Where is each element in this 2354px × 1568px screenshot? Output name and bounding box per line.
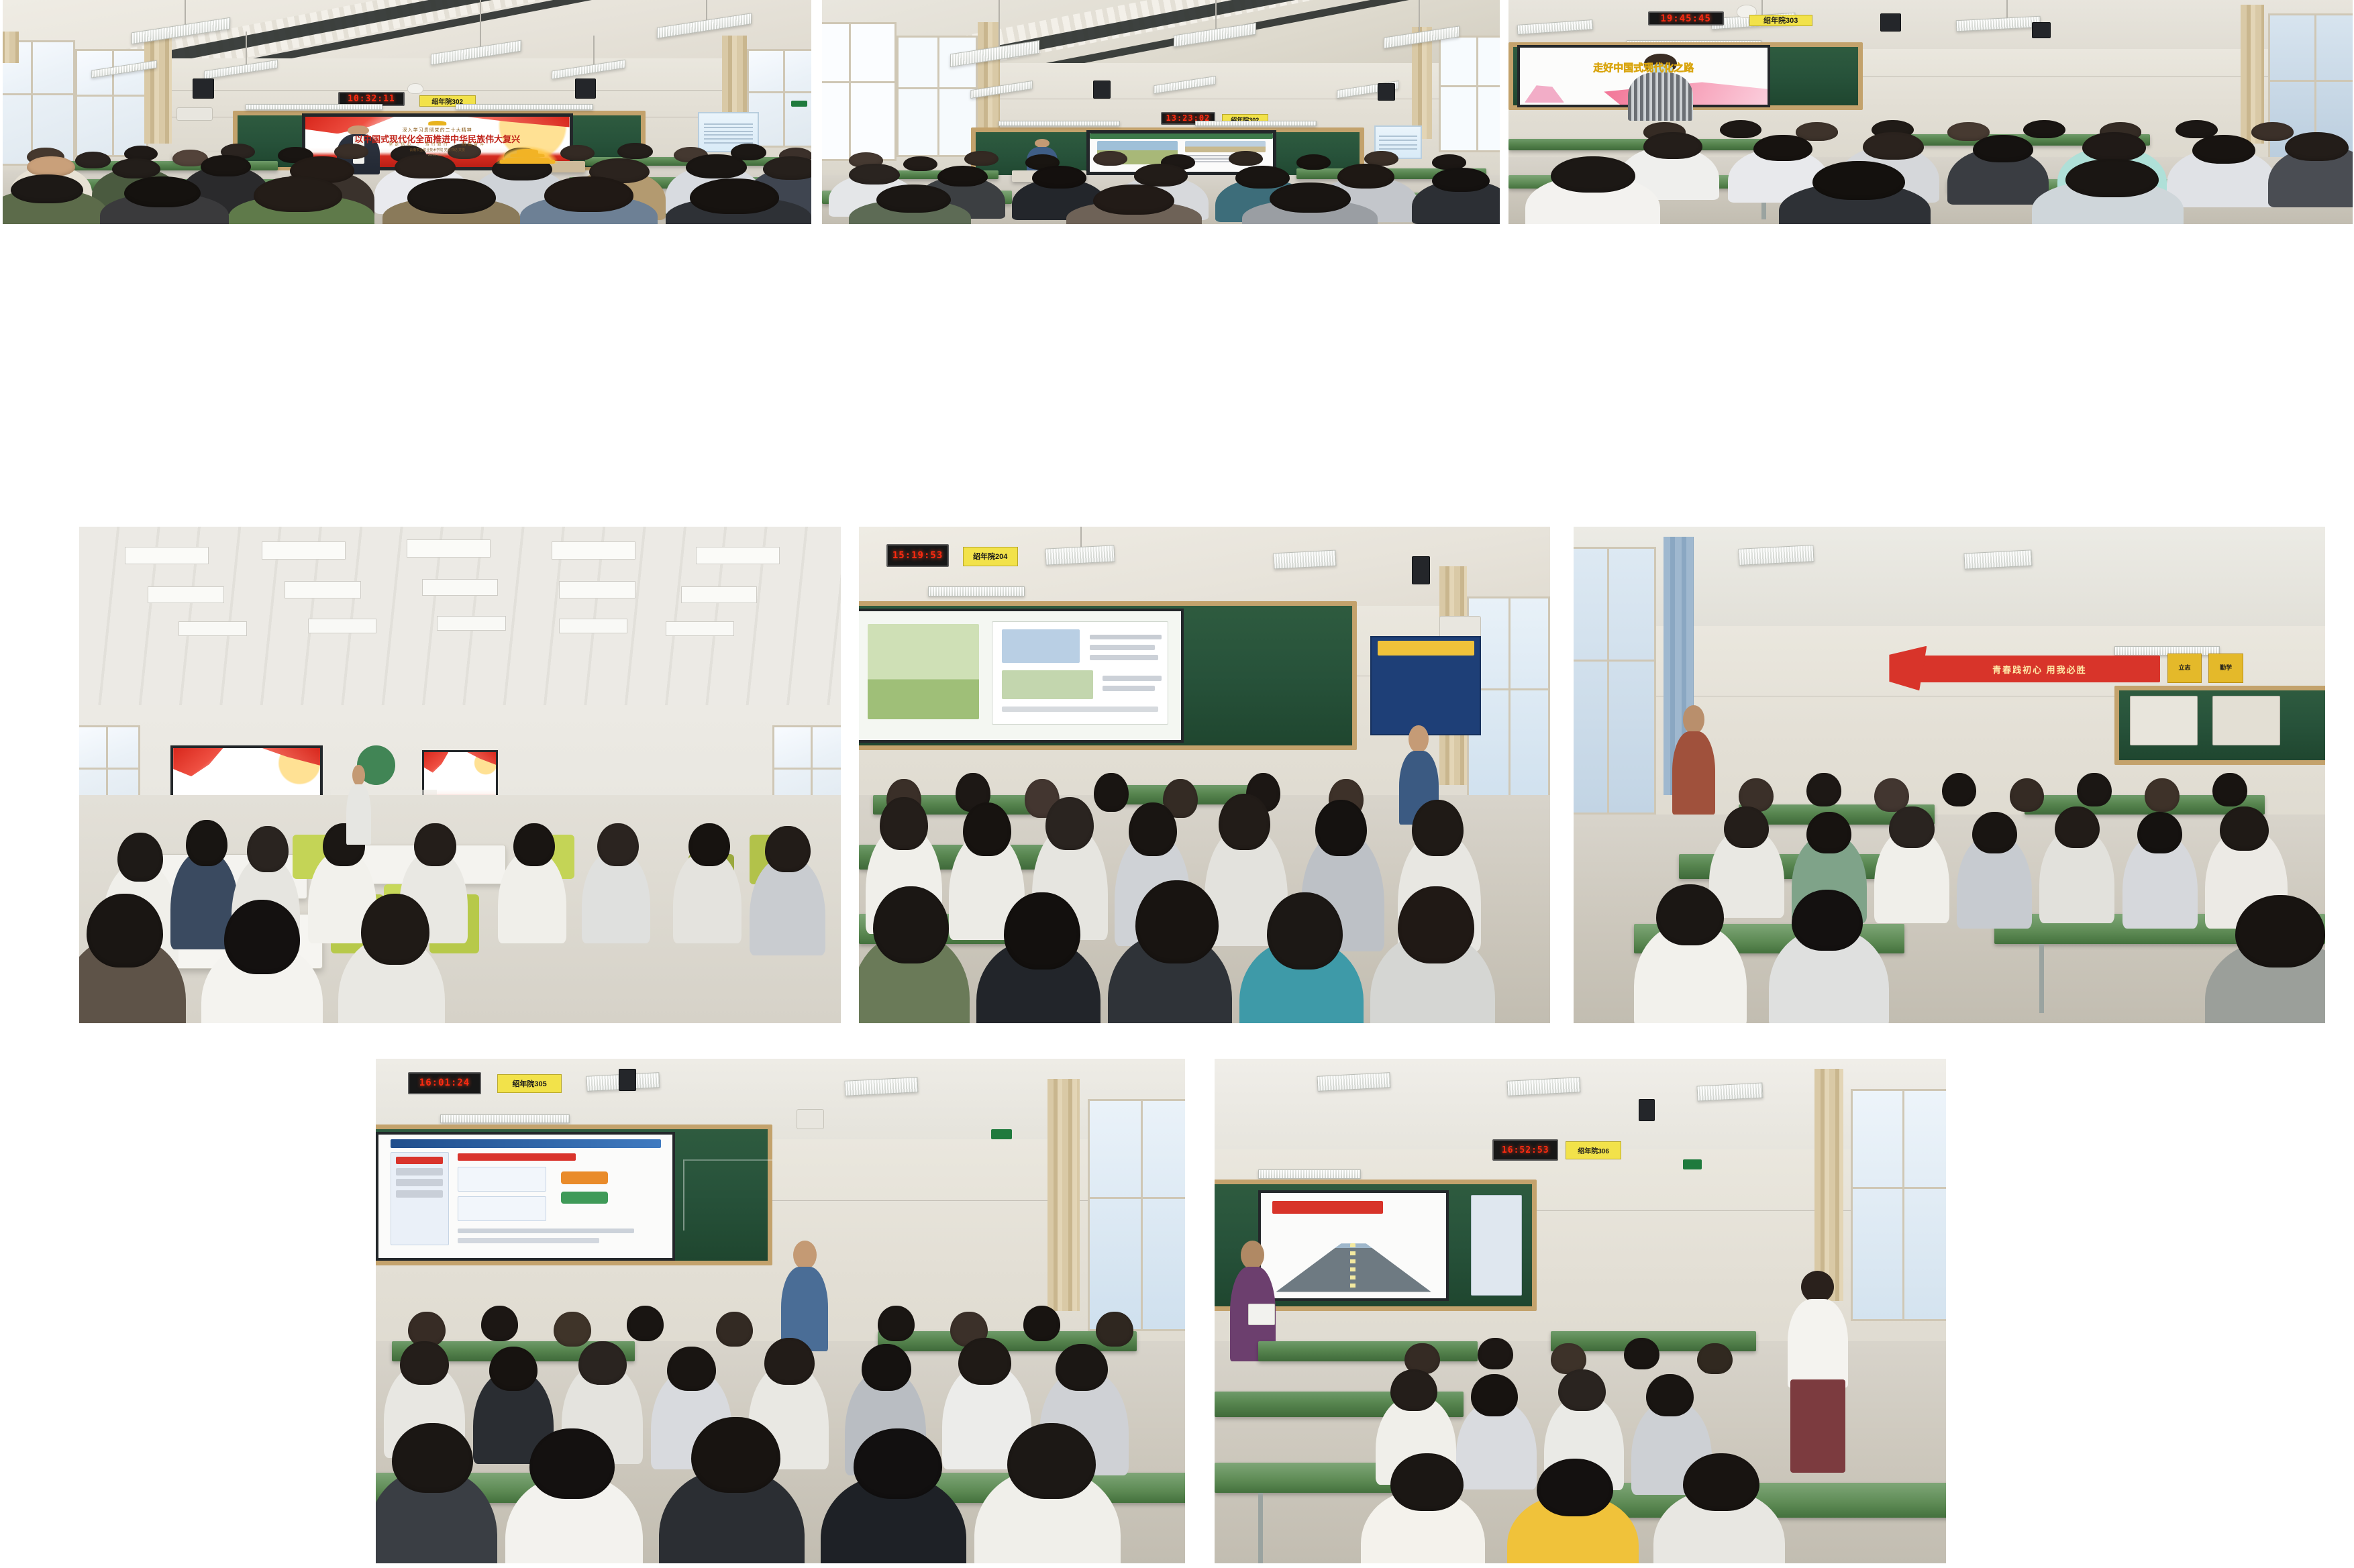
student-head xyxy=(224,900,301,974)
student-head xyxy=(765,826,811,872)
student-head xyxy=(1135,880,1219,963)
student-head xyxy=(201,155,251,176)
student-head xyxy=(1398,886,1474,963)
student-head xyxy=(481,1306,518,1341)
student-head xyxy=(1432,168,1490,192)
student-head xyxy=(2137,812,2182,853)
student-head xyxy=(75,152,111,168)
photo-5: 15:19:53 绍年院204 xyxy=(859,527,1550,1023)
slide-content xyxy=(1261,1193,1445,1298)
classroom-scene-1: 10:32:11 绍年院302 深入学习贯彻党的二十大精神 以中国式现代化全面推… xyxy=(3,0,811,224)
photo-3: 19:45:45 绍年院303 走好中国式现代化之路 xyxy=(1508,0,2353,224)
student-head xyxy=(407,178,497,213)
slide-side-item xyxy=(396,1190,443,1198)
student-head xyxy=(117,833,163,882)
student-head xyxy=(1096,1312,1133,1347)
lecture-screen xyxy=(1258,1190,1448,1301)
board-poster xyxy=(2130,696,2198,745)
ceiling-light-panel xyxy=(308,619,376,633)
ceiling-light-panel xyxy=(407,539,491,558)
student-head xyxy=(876,185,951,213)
student-head xyxy=(764,1338,815,1385)
ceiling-light-panel xyxy=(681,586,758,603)
ceiling-lamp xyxy=(1739,545,1814,566)
student-head xyxy=(1129,802,1177,856)
student-head xyxy=(414,823,456,866)
lamp-wire xyxy=(1215,0,1217,29)
student-head xyxy=(1267,892,1343,970)
classroom-scene-8: 16:52:53 绍年院306 xyxy=(1215,1059,1946,1563)
classroom-scene-6: 青春践初心 用我必胜 立志 勤学 xyxy=(1574,527,2325,1023)
student-head xyxy=(937,166,988,187)
student-head xyxy=(1551,156,1635,193)
student-head xyxy=(854,1428,943,1499)
slide-content xyxy=(378,1135,672,1258)
photo-6: 青春践初心 用我必胜 立志 勤学 xyxy=(1574,527,2325,1023)
student-head xyxy=(513,823,555,866)
student-head xyxy=(1094,773,1129,812)
slide-text-line xyxy=(1103,676,1162,681)
seminar-room-scene-4 xyxy=(79,527,841,1023)
ceiling-light-panel xyxy=(285,581,361,598)
student-head xyxy=(2145,778,2180,812)
ceiling-light-panel xyxy=(262,541,346,560)
student-head xyxy=(862,1344,912,1391)
curtain xyxy=(3,32,19,63)
slide-title-bar xyxy=(391,1139,661,1148)
student-head xyxy=(392,1423,473,1494)
lamp-wire xyxy=(1419,0,1420,32)
student-head xyxy=(878,1306,915,1341)
board-light xyxy=(928,586,1025,596)
ceiling-lamp xyxy=(1045,545,1115,566)
student-head xyxy=(1032,166,1086,189)
student-head xyxy=(2010,778,2045,812)
student-head xyxy=(400,1341,448,1385)
board-poster xyxy=(2212,696,2280,745)
student-head xyxy=(849,164,900,185)
digital-clock-display: 16:52:53 xyxy=(1492,1139,1558,1161)
room-number-plaque: 绍年院306 xyxy=(1566,1141,1621,1159)
students-crowd xyxy=(1574,745,2325,1023)
ceiling-light-panel xyxy=(559,619,627,633)
student-head xyxy=(1720,120,1762,138)
student-head xyxy=(361,894,429,965)
student-head xyxy=(395,154,455,179)
slide-flow-box xyxy=(458,1196,546,1221)
slide-title-bar xyxy=(1272,1201,1383,1214)
photo-4 xyxy=(79,527,841,1023)
student-head xyxy=(1023,1306,1060,1341)
student-head xyxy=(254,176,343,211)
students-crowd xyxy=(822,130,1500,224)
board-poster xyxy=(1471,1195,1522,1296)
student-head xyxy=(1093,151,1127,166)
slide-text-line xyxy=(1002,707,1158,712)
lamp-wire xyxy=(999,0,1000,49)
temple-of-heaven-graphic xyxy=(495,146,558,164)
student-head xyxy=(1478,1338,1513,1369)
student-head xyxy=(112,158,160,179)
slide-text-line xyxy=(458,1229,634,1233)
board-light xyxy=(999,121,1121,126)
ceiling-light-panel xyxy=(696,547,780,565)
slide-illustration xyxy=(1525,85,1564,103)
student-head xyxy=(1863,132,1924,160)
exit-sign-icon xyxy=(791,101,807,107)
student-head xyxy=(597,823,639,866)
board-light xyxy=(456,104,593,110)
slide-text-line xyxy=(458,1238,599,1243)
student-head xyxy=(27,156,75,177)
student-head xyxy=(2251,122,2294,140)
wall-speaker xyxy=(575,79,596,99)
student-head xyxy=(690,178,779,213)
security-camera xyxy=(407,83,423,95)
slide-side-item xyxy=(396,1179,443,1186)
ceiling-light-panel xyxy=(422,579,499,596)
curtain xyxy=(978,22,999,139)
student-head xyxy=(2082,132,2145,161)
digital-clock-display: 15:19:53 xyxy=(886,544,949,567)
student-head xyxy=(2065,159,2158,198)
party-emblem-icon xyxy=(428,121,447,125)
room-number-plaque: 绍年院305 xyxy=(497,1074,562,1094)
student-head xyxy=(716,1312,753,1347)
student-head xyxy=(1942,773,1977,806)
digital-clock-display: 19:45:45 xyxy=(1648,11,1724,26)
student-head xyxy=(688,823,730,866)
exit-sign-icon xyxy=(1683,1159,1702,1169)
ceiling-light-panel xyxy=(125,547,209,565)
student-head xyxy=(1134,164,1188,187)
slide-callout xyxy=(561,1192,608,1204)
wall-speaker xyxy=(1412,556,1430,584)
student-head xyxy=(1889,806,1934,848)
student-head xyxy=(2023,120,2065,138)
student-head xyxy=(2055,806,2100,848)
slide-title: 走好中国式现代化之路 xyxy=(1520,60,1768,74)
room-number-plaque: 绍年院303 xyxy=(1749,15,1812,26)
wall-speaker xyxy=(619,1069,637,1091)
classroom-scene-5: 15:19:53 绍年院204 xyxy=(859,527,1550,1023)
student-head xyxy=(1753,135,1812,162)
student-head xyxy=(963,802,1011,856)
ceiling-lamp xyxy=(1697,1082,1763,1101)
lecturer-person xyxy=(346,765,372,844)
students-crowd xyxy=(1215,1301,1946,1563)
head xyxy=(1241,1241,1264,1269)
slide-image-inset xyxy=(1002,670,1093,698)
wall-speaker xyxy=(2032,22,2051,38)
student-head xyxy=(1643,132,1702,159)
slide-text-line xyxy=(1090,635,1162,640)
student-head xyxy=(2077,773,2112,806)
student-head xyxy=(880,797,928,851)
board-light xyxy=(246,104,383,110)
student-head xyxy=(691,1417,780,1493)
side-board-header xyxy=(1378,641,1474,656)
ceiling-light-panel xyxy=(552,541,635,560)
torso xyxy=(346,784,371,845)
student-head xyxy=(1646,1374,1694,1416)
classroom-scene-3: 19:45:45 绍年院303 走好中国式现代化之路 xyxy=(1508,0,2353,224)
student-head xyxy=(1007,1423,1096,1499)
wall-speaker xyxy=(193,79,213,99)
students-crowd xyxy=(1508,103,2353,224)
student-head xyxy=(1056,1344,1108,1391)
students-crowd xyxy=(79,715,841,1023)
student-head xyxy=(1270,182,1351,213)
ceiling-light-panel xyxy=(148,586,224,603)
student-head xyxy=(1812,161,1905,200)
photo-1: 10:32:11 绍年院302 深入学习贯彻党的二十大精神 以中国式现代化全面推… xyxy=(3,0,811,224)
student-head xyxy=(1537,1459,1613,1516)
slide-text-line xyxy=(1090,645,1155,650)
students-crowd xyxy=(859,725,1550,1023)
ceiling-light-panel xyxy=(178,621,247,636)
photo-2: 13:23:02 绍年院302 xyxy=(822,0,1500,224)
student-head xyxy=(1697,1343,1732,1375)
slide-text-line xyxy=(1103,686,1155,691)
wall-card: 立志 xyxy=(2167,654,2202,683)
student-head xyxy=(964,151,999,166)
lamp-wire xyxy=(185,0,186,27)
slide-flow-box xyxy=(458,1167,546,1192)
student-head xyxy=(617,143,653,160)
slide-side-column xyxy=(391,1152,450,1246)
lamp-wire xyxy=(480,0,481,49)
student-head xyxy=(1973,135,2034,162)
chalk-writing xyxy=(683,1159,772,1230)
student-head xyxy=(554,1312,591,1347)
student-head xyxy=(489,1347,538,1390)
student-head xyxy=(667,1347,715,1390)
ceiling-light-panel xyxy=(437,616,505,631)
students-crowd xyxy=(376,1271,1185,1563)
head xyxy=(1801,1271,1834,1303)
student-head xyxy=(1219,794,1270,850)
lamp-wire xyxy=(593,36,595,67)
student-head xyxy=(763,156,811,180)
slide-side-item xyxy=(396,1157,443,1164)
student-head xyxy=(247,826,289,872)
student-head xyxy=(2192,135,2255,164)
wall-card: 勤学 xyxy=(2208,654,2243,683)
student-head xyxy=(1724,806,1769,848)
student-head xyxy=(2285,132,2348,161)
student-head xyxy=(1972,812,2017,853)
wall-speaker xyxy=(1093,81,1111,99)
curtain xyxy=(1814,1069,1844,1301)
slide-image-left xyxy=(868,624,978,719)
student-head xyxy=(11,174,83,203)
student-head xyxy=(124,176,201,207)
digital-clock-display: 16:01:24 xyxy=(408,1072,481,1094)
student-head xyxy=(2235,895,2325,968)
student-head xyxy=(958,1338,1011,1385)
student-head xyxy=(1624,1338,1659,1369)
student-head xyxy=(1792,890,1863,951)
lecture-screen xyxy=(376,1132,675,1261)
student-head xyxy=(1337,164,1395,188)
student-head xyxy=(1045,797,1094,851)
board-light xyxy=(1195,121,1317,126)
ceiling-lamp xyxy=(1273,550,1336,569)
student-head xyxy=(1806,812,1851,853)
student-head xyxy=(544,176,633,211)
student-head xyxy=(1806,773,1841,806)
student-head xyxy=(903,156,937,171)
lamp-wire xyxy=(246,32,247,67)
slide-road-centerline xyxy=(1350,1243,1355,1290)
wall-banner: 青春践初心 用我必胜 xyxy=(1919,656,2159,682)
student-head xyxy=(578,1341,627,1385)
student-head xyxy=(686,154,746,179)
head xyxy=(793,1241,817,1269)
wall-control-box xyxy=(176,107,213,121)
slide-text-line xyxy=(1090,655,1158,660)
wall-control-box xyxy=(797,1109,824,1129)
head xyxy=(352,765,365,786)
student-head xyxy=(2220,806,2269,851)
wall-speaker xyxy=(1639,1099,1655,1121)
student-head xyxy=(1296,154,1331,169)
student-head xyxy=(1558,1369,1606,1412)
slide-section-header xyxy=(458,1153,575,1161)
ceiling-light-panel xyxy=(559,581,635,598)
wall-speaker xyxy=(1880,13,1901,32)
student-head xyxy=(1683,1453,1759,1511)
student-head xyxy=(529,1428,615,1499)
student-head xyxy=(627,1306,664,1341)
room-number-plaque: 绍年院204 xyxy=(963,547,1018,567)
student-head xyxy=(1471,1374,1519,1416)
window xyxy=(1851,1089,1946,1321)
student-head xyxy=(873,886,949,963)
student-head xyxy=(1004,892,1080,970)
classroom-scene-2: 13:23:02 绍年院302 xyxy=(822,0,1500,224)
slide-side-item xyxy=(396,1168,443,1175)
ceiling-light-panel xyxy=(666,621,734,636)
board-light xyxy=(1258,1169,1361,1179)
photo-7: 16:01:24 绍年院305 xyxy=(376,1059,1185,1563)
student-head xyxy=(1235,166,1290,189)
board-light xyxy=(440,1114,570,1124)
slide-callout xyxy=(561,1171,608,1184)
slide-content xyxy=(859,611,1181,740)
classroom-scene-7: 16:01:24 绍年院305 xyxy=(376,1059,1185,1563)
student-head xyxy=(2212,773,2247,806)
student-head xyxy=(1093,185,1174,215)
student-head xyxy=(186,820,227,866)
student-head xyxy=(87,894,163,968)
slide-image-inset xyxy=(1002,629,1080,663)
student-head xyxy=(1315,800,1367,856)
student-head xyxy=(1656,884,1724,945)
exit-sign-icon xyxy=(991,1129,1012,1139)
lecture-screen xyxy=(859,609,1184,743)
head xyxy=(1683,705,1704,733)
student-head xyxy=(1390,1369,1438,1412)
student-head xyxy=(1390,1453,1464,1511)
student-head xyxy=(1229,151,1263,166)
photo-collage: 10:32:11 绍年院302 深入学习贯彻党的二十大精神 以中国式现代化全面推… xyxy=(0,0,2354,1568)
photo-8: 16:52:53 绍年院306 xyxy=(1215,1059,1946,1563)
wall-speaker xyxy=(1378,83,1395,101)
student-head xyxy=(1412,800,1464,856)
